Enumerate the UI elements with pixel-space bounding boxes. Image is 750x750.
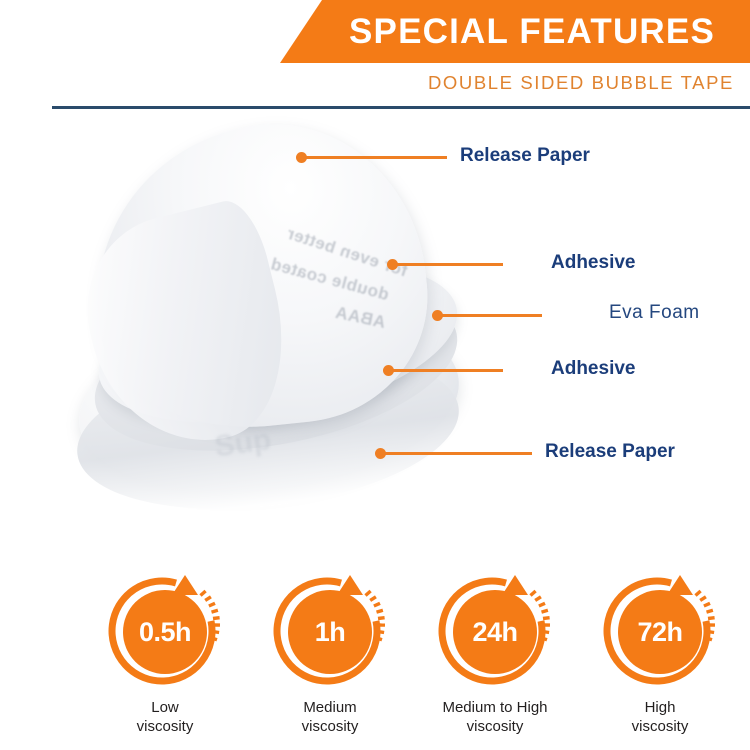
badge-caption-line-2: viscosity	[80, 717, 250, 736]
badge-caption-line-2: viscosity	[410, 717, 580, 736]
badge-0: 0.5h Low viscosity	[80, 573, 250, 736]
leader-dot	[375, 448, 386, 459]
badge-caption-line-1: Low	[80, 698, 250, 717]
callout-release-paper-bottom: Release Paper	[545, 441, 675, 463]
product-image: for even better double coated ABAA Sup	[40, 118, 470, 508]
leader-line-release-paper-top	[301, 156, 447, 159]
timer-dial-icon: 1h	[271, 573, 389, 691]
badge-caption: High viscosity	[575, 698, 745, 736]
leader-dot	[387, 259, 398, 270]
leader-line-eva-foam	[437, 314, 542, 317]
badge-3: 72h High viscosity	[575, 573, 745, 736]
timer-dial-icon: 72h	[601, 573, 719, 691]
badge-caption-line-2: viscosity	[245, 717, 415, 736]
badge-value: 1h	[271, 573, 389, 691]
badge-caption: Medium to High viscosity	[410, 698, 580, 736]
badge-1: 1h Medium viscosity	[245, 573, 415, 736]
leader-dot	[296, 152, 307, 163]
badge-value: 72h	[601, 573, 719, 691]
badge-caption-line-2: viscosity	[575, 717, 745, 736]
badge-caption-line-1: Medium to High	[410, 698, 580, 717]
timer-dial-icon: 24h	[436, 573, 554, 691]
callout-release-paper-top: Release Paper	[460, 145, 590, 167]
page-header: SPECIAL FEATURES DOUBLE SIDED BUBBLE TAP…	[0, 0, 750, 112]
callout-adhesive-bottom: Adhesive	[551, 358, 635, 380]
badge-caption: Low viscosity	[80, 698, 250, 736]
page-title: SPECIAL FEATURES	[315, 12, 715, 52]
page-subtitle: DOUBLE SIDED BUBBLE TAPE	[428, 72, 734, 94]
badge-caption: Medium viscosity	[245, 698, 415, 736]
badge-2: 24h Medium to High viscosity	[410, 573, 580, 736]
header-divider	[52, 106, 750, 109]
timer-dial-icon: 0.5h	[106, 573, 224, 691]
leader-dot	[432, 310, 443, 321]
leader-line-release-paper-bottom	[380, 452, 532, 455]
header-banner: SPECIAL FEATURES	[280, 0, 750, 63]
leader-line-adhesive-top	[392, 263, 503, 266]
leader-dot	[383, 365, 394, 376]
callout-eva-foam: Eva Foam	[609, 302, 700, 324]
badge-value: 0.5h	[106, 573, 224, 691]
callout-adhesive-top: Adhesive	[551, 252, 635, 274]
badge-caption-line-1: Medium	[245, 698, 415, 717]
viscosity-badge-row: 0.5h Low viscosity	[0, 565, 750, 750]
badge-caption-line-1: High	[575, 698, 745, 717]
badge-value: 24h	[436, 573, 554, 691]
leader-line-adhesive-bottom	[388, 369, 503, 372]
